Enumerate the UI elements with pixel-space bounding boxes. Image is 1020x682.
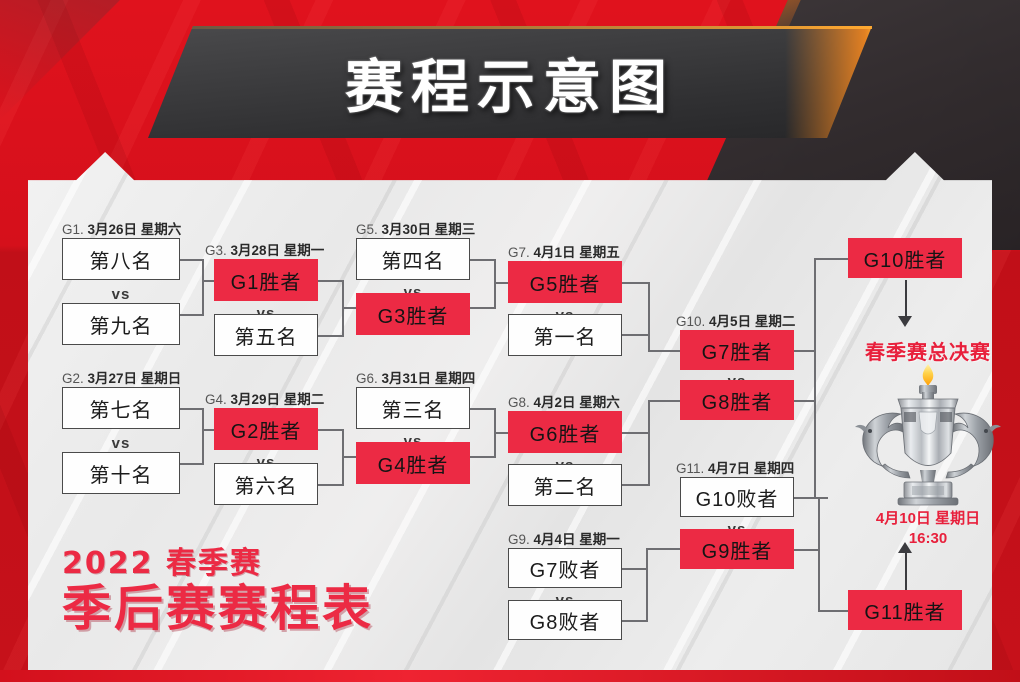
- connector-g6-top: [470, 408, 496, 410]
- match-slot-g7-top[interactable]: G5胜者: [508, 261, 622, 303]
- connector-g8-out: [648, 400, 680, 402]
- connector-g9-rise: [646, 548, 648, 594]
- connector-g11-winner-out: [818, 610, 850, 612]
- match-slot-g5-bottom[interactable]: G3胜者: [356, 293, 470, 335]
- connector-g11-winner-drop: [818, 523, 820, 612]
- connector-g9-bottom: [622, 620, 648, 622]
- connector-g9-out: [646, 548, 680, 550]
- connector-g7-out: [648, 350, 680, 352]
- game-label-g10: G10. 4月5日 星期二: [676, 310, 795, 330]
- game-date-g4: 3月29日 星期二: [231, 392, 325, 407]
- game-label-g5: G5. 3月30日 星期三: [356, 218, 475, 238]
- match-slot-g2-bottom[interactable]: 第十名: [62, 452, 180, 494]
- match-slot-g9-top[interactable]: G7败者: [508, 548, 622, 588]
- connector-g10-winner-rise: [814, 258, 816, 376]
- trophy-icon: [846, 358, 1010, 508]
- game-label-g2: G2. 3月27日 星期日: [62, 367, 181, 387]
- match-slot-g6-bottom[interactable]: G4胜者: [356, 442, 470, 484]
- game-date-g6: 3月31日 星期四: [382, 371, 476, 386]
- game-id-g4: G4.: [205, 392, 227, 407]
- arrow-down-icon: [898, 280, 914, 328]
- match-slot-g1-top[interactable]: 第八名: [62, 238, 180, 280]
- headline-block: 2022 春季赛 季后赛赛程表: [62, 538, 374, 635]
- headline-line2: 季后赛赛程表: [62, 584, 374, 635]
- connector-g5-top: [470, 259, 496, 261]
- game-date-g7: 4月1日 星期五: [534, 245, 620, 260]
- match-slot-g8-bottom[interactable]: 第二名: [508, 464, 622, 506]
- connector-g11-bottom: [794, 549, 820, 551]
- final-time: 16:30: [846, 529, 1010, 549]
- game-date-g8: 4月2日 星期六: [534, 395, 620, 410]
- match-slot-g10-top[interactable]: G7胜者: [680, 330, 794, 370]
- connector-g2-bottom: [180, 463, 204, 465]
- connector-g3-bottom: [318, 335, 344, 337]
- connector-g4-bottom: [318, 484, 344, 486]
- finalist-upper[interactable]: G10胜者: [848, 238, 962, 278]
- connector-g4-top: [318, 429, 344, 431]
- finalist-lower[interactable]: G11胜者: [848, 590, 962, 630]
- game-date-g11: 4月7日 星期四: [708, 461, 794, 476]
- game-id-g9: G9.: [508, 532, 530, 547]
- game-date-g3: 3月28日 星期一: [231, 243, 325, 258]
- connector-g5-out: [494, 282, 508, 284]
- connector-g5-bottom: [470, 307, 496, 309]
- connector-g1-bottom: [180, 314, 204, 316]
- connector-g9-top: [622, 568, 648, 570]
- game-id-g11: G11.: [676, 461, 704, 476]
- page-title: 赛程示意图: [148, 26, 872, 138]
- game-date-g10: 4月5日 星期二: [709, 314, 795, 329]
- game-label-g9: G9. 4月4日 星期一: [508, 528, 620, 548]
- final-date-time: 4月10日 星期日 16:30: [846, 509, 1010, 550]
- final-date: 4月10日 星期日: [846, 509, 1010, 529]
- connector-g7-bottom: [622, 334, 650, 336]
- connector-g11-top: [794, 497, 820, 499]
- game-date-g9: 4月4日 星期一: [534, 532, 620, 547]
- game-date-g5: 3月30日 星期三: [382, 222, 476, 237]
- connector-g6-out: [494, 432, 508, 434]
- game-id-g7: G7.: [508, 245, 530, 260]
- game-label-g8: G8. 4月2日 星期六: [508, 391, 620, 411]
- connector-g7-top: [622, 282, 650, 284]
- connector-g1-vertical: [202, 259, 204, 316]
- game-id-g2: G2.: [62, 371, 84, 386]
- schedule-infographic: 赛程示意图: [0, 0, 1020, 682]
- match-slot-g3-top[interactable]: G1胜者: [214, 259, 318, 301]
- game-label-g3: G3. 3月28日 星期一: [205, 239, 324, 259]
- game-id-g5: G5.: [356, 222, 378, 237]
- game-label-g4: G4. 3月29日 星期二: [205, 388, 324, 408]
- connector-g8-vertical: [648, 400, 650, 486]
- game-id-g1: G1.: [62, 222, 84, 237]
- connector-g8-top: [622, 432, 650, 434]
- match-slot-g5-top[interactable]: 第四名: [356, 238, 470, 280]
- connector-g10-loser-drop: [814, 400, 816, 498]
- match-slot-g3-bottom[interactable]: 第五名: [214, 314, 318, 356]
- connector-g3-top: [318, 280, 344, 282]
- vs-label-g2: vs: [62, 435, 180, 452]
- connector-g6-bottom: [470, 456, 496, 458]
- connector-g4-out: [342, 456, 356, 458]
- connector-g1-top: [180, 259, 204, 261]
- game-label-g6: G6. 3月31日 星期四: [356, 367, 475, 387]
- match-slot-g2-top[interactable]: 第七名: [62, 387, 180, 429]
- connector-g2-top: [180, 408, 204, 410]
- match-slot-g7-bottom[interactable]: 第一名: [508, 314, 622, 356]
- connector-g10-top: [794, 350, 816, 352]
- match-slot-g8-top[interactable]: G6胜者: [508, 411, 622, 453]
- game-date-g2: 3月27日 星期日: [88, 371, 182, 386]
- bottom-trim: [0, 670, 1020, 682]
- game-id-g8: G8.: [508, 395, 530, 410]
- game-label-g11: G11. 4月7日 星期四: [676, 457, 794, 477]
- connector-g10-bottom: [794, 400, 816, 402]
- match-slot-g11-bottom[interactable]: G9胜者: [680, 529, 794, 569]
- match-slot-g4-top[interactable]: G2胜者: [214, 408, 318, 450]
- connector-g2-vertical: [202, 408, 204, 465]
- match-slot-g1-bottom[interactable]: 第九名: [62, 303, 180, 345]
- game-label-g7: G7. 4月1日 星期五: [508, 241, 620, 261]
- connector-g7-drop: [648, 308, 650, 352]
- game-id-g6: G6.: [356, 371, 378, 386]
- match-slot-g4-bottom[interactable]: 第六名: [214, 463, 318, 505]
- connector-g8-bottom: [622, 484, 650, 486]
- connector-g5-vertical: [494, 259, 496, 309]
- match-slot-g11-top[interactable]: G10败者: [680, 477, 794, 517]
- match-slot-g9-bottom[interactable]: G8败者: [508, 600, 622, 640]
- match-slot-g6-top[interactable]: 第三名: [356, 387, 470, 429]
- match-slot-g10-bottom[interactable]: G8胜者: [680, 380, 794, 420]
- game-date-g1: 3月26日 星期六: [88, 222, 182, 237]
- connector-g10-winner-out: [814, 258, 848, 260]
- game-id-g10: G10.: [676, 314, 705, 329]
- connector-g3-out: [342, 307, 356, 309]
- headline-line1: 2022 春季赛: [62, 538, 374, 582]
- game-id-g3: G3.: [205, 243, 227, 258]
- vs-label-g1: vs: [62, 286, 180, 303]
- game-label-g1: G1. 3月26日 星期六: [62, 218, 181, 238]
